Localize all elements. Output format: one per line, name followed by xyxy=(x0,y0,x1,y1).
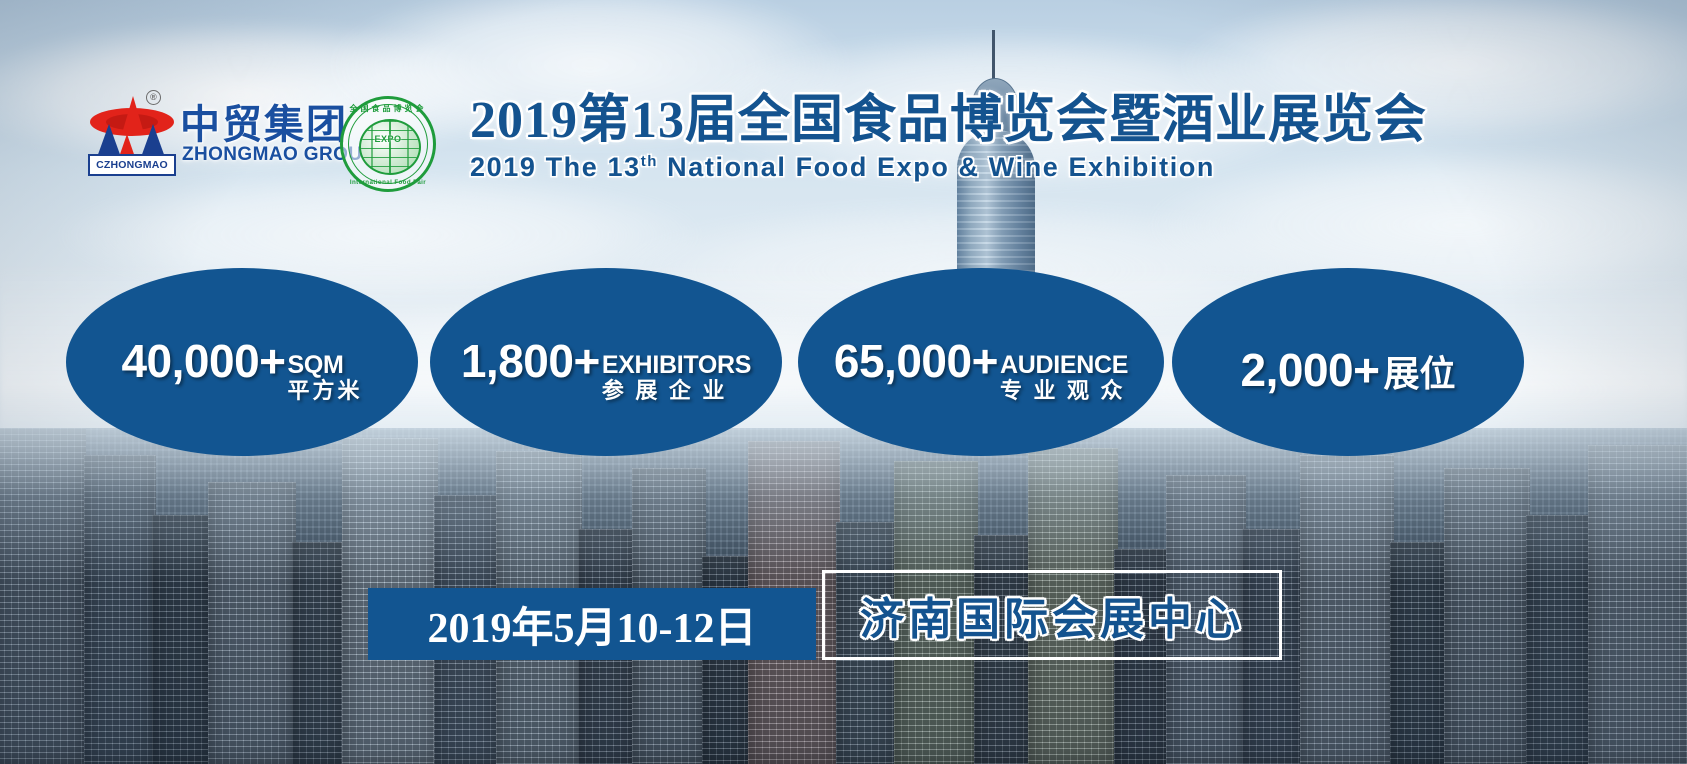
emblem-center-text: EXPO xyxy=(343,133,433,146)
event-banner: ® CZHONGMAO 中贸集团 ZHONGMAO GROUP 全国食品博览会 xyxy=(0,0,1687,764)
stat-label: AUDIENCE 专 业 观 众 xyxy=(1000,353,1128,403)
stat-number: 65,000+ xyxy=(834,334,998,388)
building xyxy=(152,515,212,764)
building xyxy=(1300,455,1394,764)
statistics-row: 40,000+ SQM 平方米 1,800+ EXHIBITORS 参 展 企 … xyxy=(0,268,1687,458)
title-en-pre: 2019 The 13 xyxy=(470,152,641,182)
zhongmao-badge: CZHONGMAO xyxy=(88,154,176,176)
event-date: 2019年5月10-12日 xyxy=(428,594,757,655)
event-title-cn: 2019第13届全国食品博览会暨酒业展览会 xyxy=(470,92,1500,150)
emblem-globe-icon xyxy=(359,119,421,175)
stat-oval-sqm: 40,000+ SQM 平方米 xyxy=(66,268,418,456)
title-en-ordinal: th xyxy=(641,153,658,170)
emblem-arc-text-cn: 全国食品博览会 xyxy=(343,103,433,114)
zhongmao-group-logo: ® CZHONGMAO 中贸集团 ZHONGMAO GROUP xyxy=(84,88,329,176)
stat-label-en: AUDIENCE xyxy=(1000,353,1128,378)
emblem-center-sub: EXPO xyxy=(343,133,433,146)
stat-label-cn: 参 展 企 业 xyxy=(602,378,751,403)
event-venue: 济南国际会展中心 xyxy=(860,583,1244,647)
building xyxy=(1444,468,1530,764)
building xyxy=(208,482,296,764)
emblem-arc-text-en: International Food Fair xyxy=(343,179,433,186)
stat-number: 40,000+ xyxy=(121,334,285,388)
stat-number: 2,000+ xyxy=(1241,343,1380,397)
stat-label-cn: 专 业 观 众 xyxy=(1000,378,1128,403)
stat-oval-audience: 65,000+ AUDIENCE 专 业 观 众 xyxy=(798,268,1164,456)
title-en-post: National Food Expo & Wine Exhibition xyxy=(658,152,1215,182)
building xyxy=(1390,542,1448,764)
stat-label-en: SQM xyxy=(288,353,363,378)
banner-header: ® CZHONGMAO 中贸集团 ZHONGMAO GROUP 全国食品博览会 xyxy=(0,0,1687,200)
stat-label: SQM 平方米 xyxy=(288,353,363,403)
banner-title-block: 2019第13届全国食品博览会暨酒业展览会 2019 The 13th Nati… xyxy=(470,92,1500,183)
building xyxy=(84,455,156,764)
event-title-en: 2019 The 13th National Food Expo & Wine … xyxy=(470,152,1500,183)
stat-label-cn: 平方米 xyxy=(288,378,363,403)
event-venue-box: 济南国际会展中心 xyxy=(822,570,1282,660)
building xyxy=(1588,445,1687,764)
stat-number: 1,800+ xyxy=(461,334,600,388)
stat-label-cn: 展位 xyxy=(1383,345,1455,397)
stat-label: EXHIBITORS 参 展 企 业 xyxy=(602,353,751,403)
building xyxy=(292,542,346,764)
building xyxy=(0,428,86,764)
zhongmao-tower-mark-icon: ® CZHONGMAO xyxy=(84,88,180,176)
stat-label-en: EXHIBITORS xyxy=(602,353,751,378)
zhongmao-name-cn: 中贸集团 xyxy=(180,92,348,150)
stat-oval-booths: 2,000+ 展位 xyxy=(1172,268,1524,456)
food-expo-globe-emblem-icon: 全国食品博览会 EXPO International Food Fair xyxy=(340,96,436,192)
event-date-box: 2019年5月10-12日 xyxy=(368,588,816,660)
stat-oval-exhibitors: 1,800+ EXHIBITORS 参 展 企 业 xyxy=(430,268,782,456)
building xyxy=(1526,515,1592,764)
